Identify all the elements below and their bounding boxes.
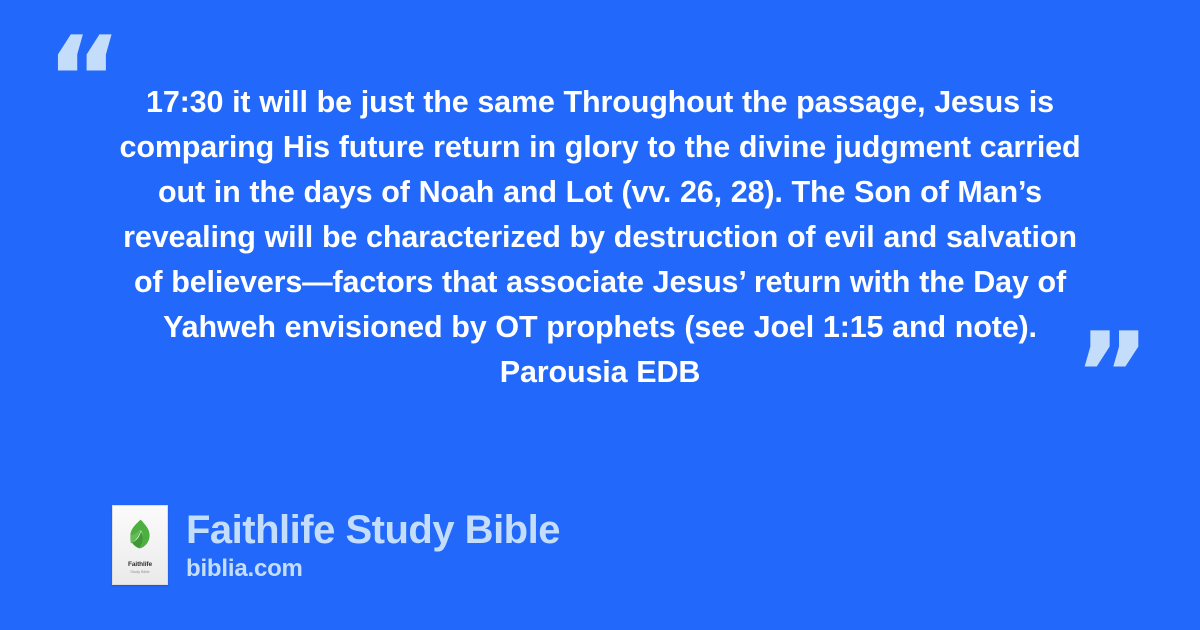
quote-card: “ 17:30 it will be just the same Through… — [0, 0, 1200, 630]
close-quote-icon: ” — [1074, 318, 1152, 434]
book-cover-title: Faithlife — [128, 562, 152, 569]
attribution-text: Faithlife Study Bible biblia.com — [186, 507, 560, 583]
attribution: Faithlife Study Bible Faithlife Study Bi… — [112, 505, 560, 585]
quote-text: 17:30 it will be just the same Throughou… — [110, 80, 1090, 395]
source-title: Faithlife Study Bible — [186, 507, 560, 553]
book-cover-subtitle: Study Bible — [130, 571, 149, 575]
faithlife-leaf-icon — [127, 519, 153, 549]
book-cover-thumbnail: Faithlife Study Bible — [112, 505, 168, 585]
source-url[interactable]: biblia.com — [186, 555, 560, 583]
